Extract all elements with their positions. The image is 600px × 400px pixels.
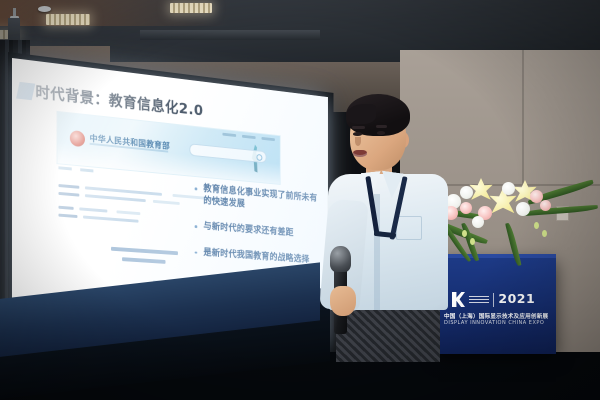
- speaker-mouth: [353, 150, 367, 157]
- pink-rose: [540, 200, 551, 211]
- doc-label: [58, 184, 79, 188]
- white-carnation: [516, 202, 530, 216]
- flower-bud: [534, 222, 539, 229]
- microphone-head: [330, 246, 351, 272]
- website-screenshot: 中华人民共和国教育部: [57, 111, 281, 185]
- wordmark-line: [469, 302, 489, 304]
- sprinkler-icon: [13, 8, 16, 17]
- speaker-person: [322, 88, 452, 354]
- logo-wordmark-lines: [469, 296, 489, 304]
- white-carnation: [472, 216, 484, 228]
- flower-bud: [462, 230, 467, 237]
- slide-title-accent-bar: [16, 82, 35, 100]
- website-top-nav: [222, 133, 274, 141]
- nav-link-placeholder: [222, 133, 236, 137]
- nav-link-placeholder: [242, 135, 256, 139]
- white-carnation: [460, 186, 473, 199]
- wall-seam: [522, 50, 524, 184]
- doc-heading: [111, 247, 178, 255]
- wordmark-line: [469, 299, 489, 301]
- smoke-detector-icon: [38, 6, 51, 12]
- doc-label: [58, 206, 73, 210]
- palm-frond: [505, 222, 521, 266]
- doc-heading: [122, 257, 165, 263]
- speaker-eye: [377, 131, 385, 135]
- logo-divider: [493, 293, 494, 307]
- conference-photo-scene: 时代背景：教育信息化2.0 中华人民共和国教育部: [0, 0, 600, 400]
- doc-text-line: [85, 186, 162, 195]
- white-carnation: [502, 182, 515, 195]
- flower-bud: [470, 238, 475, 245]
- national-emblem-icon: [70, 130, 85, 147]
- ceiling-led-panel: [170, 3, 212, 13]
- doc-text-line: [153, 200, 180, 205]
- slide-bullet-item: 与新时代的要求还有差距: [194, 220, 320, 241]
- slide-bullet-item: 教育信息化事业实现了前所未有的快速发展: [194, 183, 320, 217]
- speaker-eyebrow: [376, 125, 387, 128]
- shirt-pocket: [396, 216, 422, 240]
- ceiling-beam: [140, 30, 320, 40]
- doc-label: [58, 192, 79, 196]
- palm-frond: [524, 205, 598, 216]
- pink-rose: [460, 202, 472, 214]
- speaker-nose: [355, 137, 361, 146]
- doc-text-line: [117, 210, 141, 214]
- breadcrumb-item: [80, 168, 93, 172]
- wordmark-line: [469, 296, 489, 298]
- speaker-eye: [353, 132, 362, 136]
- breadcrumb-item: [58, 166, 71, 170]
- doc-label: [58, 214, 77, 218]
- ceiling-led-panel: [46, 14, 90, 25]
- speaker-hand: [330, 286, 356, 316]
- flower-bud: [542, 230, 547, 237]
- doc-text-line: [85, 194, 146, 202]
- speaker-eyebrow: [352, 126, 365, 129]
- expo-k-logo-icon: 2021: [452, 292, 535, 307]
- speaker-hair-fringe: [346, 104, 376, 124]
- doc-text-line: [83, 216, 138, 223]
- website-breadcrumb: [58, 166, 93, 172]
- nav-link-placeholder: [261, 137, 274, 141]
- expo-name-en: DISPLAY INNOVATION CHINA EXPO: [444, 320, 544, 326]
- k-mark: [452, 292, 465, 307]
- doc-text-line: [79, 207, 107, 212]
- expo-year: 2021: [498, 293, 535, 306]
- expo-name-cn: 中国（上海）国际显示技术及应用创新展: [444, 312, 548, 320]
